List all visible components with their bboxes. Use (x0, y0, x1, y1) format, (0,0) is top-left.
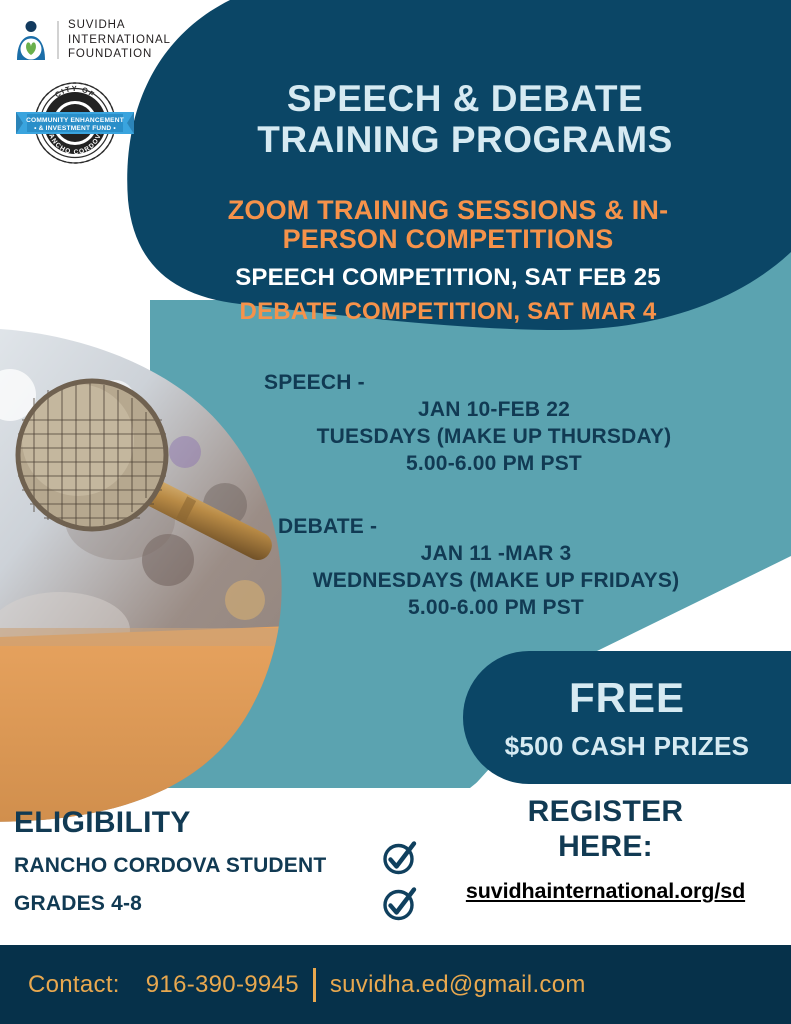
speech-schedule-days: TUESDAYS (MAKE UP THURSDAY) (226, 424, 762, 451)
contact-footer-inner: Contact: 916-390-9945 suvidha.ed@gmail.c… (0, 968, 586, 1002)
free-cash-prizes-badge: FREE $500 CASH PRIZES (463, 651, 791, 784)
suvidha-logo-line-1: SUVIDHA (68, 18, 171, 33)
debate-schedule-block: DEBATE - JAN 11 -MAR 3 WEDNESDAYS (MAKE … (276, 514, 776, 622)
debate-schedule-dates: JAN 11 -MAR 3 (216, 541, 776, 568)
suvidha-logo-line-3: FOUNDATION (68, 47, 171, 62)
city-seal-band-line-1: COMMUNITY ENHANCEMENT (26, 117, 124, 124)
contact-email[interactable]: suvidha.ed@gmail.com (330, 971, 586, 999)
title-line-1: SPEECH & DEBATE (150, 78, 780, 119)
register-heading-line-1: REGISTER (420, 794, 791, 829)
subheadline: ZOOM TRAINING SESSIONS & IN- PERSON COMP… (128, 196, 768, 327)
register-section: REGISTER HERE: suvidhainternational.org/… (420, 794, 791, 904)
contact-label: Contact: (28, 971, 120, 999)
contact-separator (313, 968, 316, 1002)
speech-schedule-time: 5.00-6.00 PM PST (226, 451, 762, 478)
speech-schedule-label: SPEECH - (264, 370, 762, 397)
title-line-2: TRAINING PROGRAMS (150, 119, 780, 160)
register-heading-line-2: HERE: (420, 829, 791, 864)
suvidha-logo-text: SUVIDHA INTERNATIONAL FOUNDATION (68, 18, 171, 62)
page-title: SPEECH & DEBATE TRAINING PROGRAMS (150, 78, 780, 161)
circle-check-icon (381, 838, 419, 876)
city-seal-band-line-2: • & INVESTMENT FUND • (34, 125, 116, 132)
eligibility-heading: ELIGIBILITY (14, 806, 394, 840)
speech-schedule-block: SPEECH - JAN 10-FEB 22 TUESDAYS (MAKE UP… (262, 370, 762, 478)
debate-schedule-time: 5.00-6.00 PM PST (216, 595, 776, 622)
register-url-link[interactable]: suvidhainternational.org/sd (466, 879, 745, 904)
suvidha-logo-line-2: INTERNATIONAL (68, 33, 171, 48)
suvidha-mark-icon (14, 20, 48, 60)
eligibility-line-1: RANCHO CORDOVA STUDENT (14, 854, 394, 878)
eligibility-section: ELIGIBILITY RANCHO CORDOVA STUDENT GRADE… (14, 806, 394, 916)
eligibility-line-2: GRADES 4-8 (14, 892, 394, 916)
poster-canvas: SUVIDHA INTERNATIONAL FOUNDATION (0, 0, 791, 1024)
contact-footer: Contact: 916-390-9945 suvidha.ed@gmail.c… (0, 945, 791, 1024)
debate-schedule-label: DEBATE - (278, 514, 776, 541)
free-label: FREE (569, 677, 685, 719)
subheadline-line-2: PERSON COMPETITIONS (128, 225, 768, 254)
logo-divider (57, 21, 59, 59)
debate-competition-date: DEBATE COMPETITION, SAT MAR 4 (128, 296, 768, 327)
debate-schedule-days: WEDNESDAYS (MAKE UP FRIDAYS) (216, 568, 776, 595)
city-seal-icon: CITY OF RANCHO CORDOVA COMMUNITY ENHANCE… (12, 78, 138, 168)
suvidha-logo: SUVIDHA INTERNATIONAL FOUNDATION (14, 18, 171, 62)
subheadline-line-1: ZOOM TRAINING SESSIONS & IN- (128, 196, 768, 225)
speech-competition-date: SPEECH COMPETITION, SAT FEB 25 (128, 262, 768, 293)
city-seal-logo: CITY OF RANCHO CORDOVA COMMUNITY ENHANCE… (12, 78, 138, 168)
cash-prizes-label: $500 CASH PRIZES (505, 733, 750, 759)
contact-phone[interactable]: 916-390-9945 (146, 971, 299, 999)
speech-schedule-dates: JAN 10-FEB 22 (226, 397, 762, 424)
circle-check-icon (381, 884, 419, 922)
